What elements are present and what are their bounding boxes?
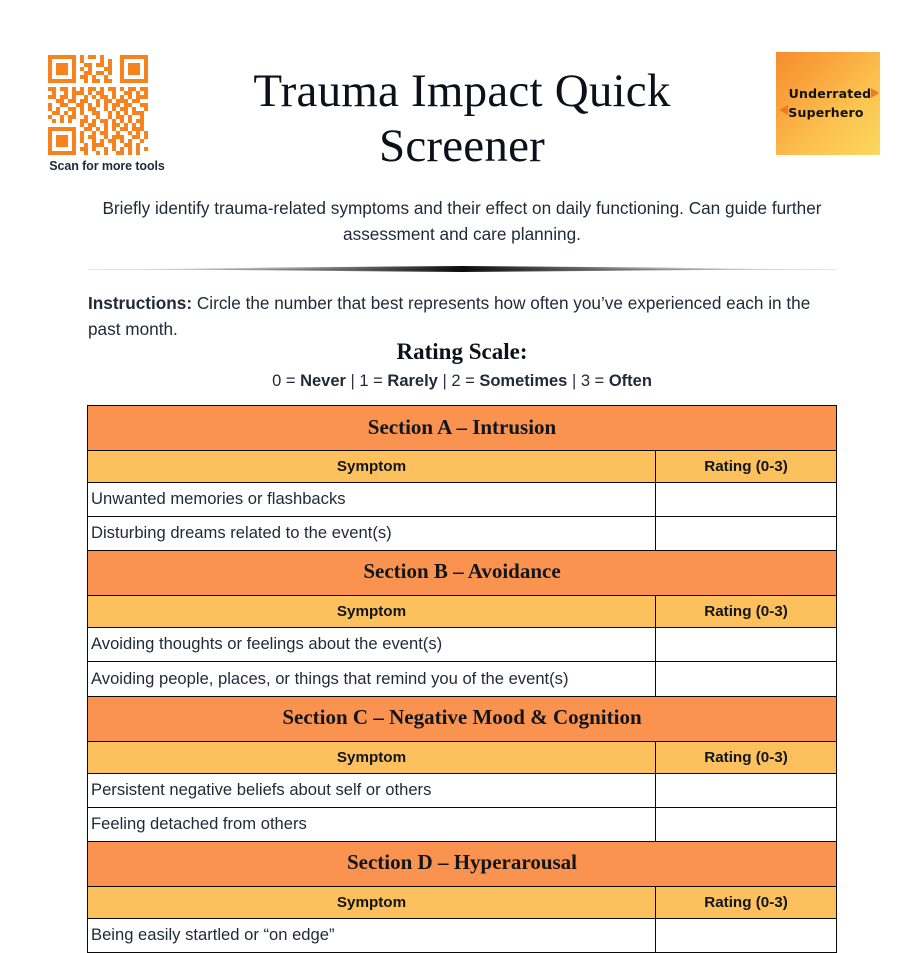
page-title: Trauma Impact Quick Screener [172,64,752,173]
rating-value: 1 = [359,372,387,390]
brand-line-2: Superhero [788,104,863,122]
table-row: Avoiding people, places, or things that … [88,661,837,696]
rating-separator: | [346,372,359,390]
table-row: Avoiding thoughts or feelings about the … [88,627,837,661]
column-header-row: SymptomRating (0-3) [88,886,837,918]
rating-separator: | [438,372,451,390]
instructions: Instructions: Circle the number that bes… [88,291,836,343]
brand-line-1: Underrated [789,85,872,103]
rating-scale-title: Rating Scale: [88,339,836,365]
qr-code-icon[interactable] [48,55,148,155]
symptom-cell: Avoiding people, places, or things that … [88,661,656,696]
qr-caption: Scan for more tools [48,159,166,173]
section-header-row: Section A – Intrusion [88,406,837,451]
symptom-cell: Unwanted memories or flashbacks [88,483,656,517]
column-header-rating: Rating (0-3) [656,741,837,773]
screener-table: Section A – IntrusionSymptomRating (0-3)… [87,405,837,953]
page-subtitle: Briefly identify trauma-related symptoms… [82,196,842,248]
section-header-row: Section B – Avoidance [88,550,837,595]
qr-block[interactable]: Scan for more tools [48,55,166,173]
rating-scale-legend: 0 = Never | 1 = Rarely | 2 = Sometimes |… [88,372,836,391]
rating-cell[interactable] [656,661,837,696]
rating-value: 0 = [272,372,300,390]
symptom-cell: Avoiding thoughts or feelings about the … [88,627,656,661]
column-header-row: SymptomRating (0-3) [88,451,837,483]
symptom-cell: Being easily startled or “on edge” [88,918,656,952]
section-divider [88,266,836,272]
column-header-symptom: Symptom [88,886,656,918]
instructions-text: Circle the number that best represents h… [88,293,810,339]
column-header-rating: Rating (0-3) [656,595,837,627]
divider-core [133,266,791,272]
section-heading: Section A – Intrusion [88,406,837,451]
rating-label: Often [609,372,652,390]
column-header-symptom: Symptom [88,741,656,773]
section-header-row: Section D – Hyperarousal [88,841,837,886]
section-heading: Section C – Negative Mood & Cognition [88,696,837,741]
table-row: Unwanted memories or flashbacks [88,483,837,517]
rating-cell[interactable] [656,773,837,807]
rating-label: Never [300,372,346,390]
rating-cell[interactable] [656,807,837,841]
page-header: Scan for more tools Trauma Impact Quick … [0,0,924,182]
column-header-symptom: Symptom [88,595,656,627]
section-heading: Section D – Hyperarousal [88,841,837,886]
rating-cell[interactable] [656,516,837,550]
brand-badge: Underrated Superhero [776,52,880,155]
section-heading: Section B – Avoidance [88,550,837,595]
symptom-cell: Disturbing dreams related to the event(s… [88,516,656,550]
symptom-cell: Feeling detached from others [88,807,656,841]
section-header-row: Section C – Negative Mood & Cognition [88,696,837,741]
rating-label: Rarely [387,372,437,390]
rating-separator: | [567,372,580,390]
rating-label: Sometimes [479,372,567,390]
column-header-rating: Rating (0-3) [656,886,837,918]
symptom-cell: Persistent negative beliefs about self o… [88,773,656,807]
rating-value: 2 = [451,372,479,390]
rating-cell[interactable] [656,918,837,952]
table-row: Feeling detached from others [88,807,837,841]
rating-cell[interactable] [656,483,837,517]
column-header-symptom: Symptom [88,451,656,483]
table-row: Persistent negative beliefs about self o… [88,773,837,807]
table-row: Disturbing dreams related to the event(s… [88,516,837,550]
rating-value: 3 = [581,372,609,390]
table-row: Being easily startled or “on edge” [88,918,837,952]
screener-page: Scan for more tools Trauma Impact Quick … [0,0,924,881]
column-header-rating: Rating (0-3) [656,451,837,483]
column-header-row: SymptomRating (0-3) [88,741,837,773]
rating-cell[interactable] [656,627,837,661]
column-header-row: SymptomRating (0-3) [88,595,837,627]
instructions-label: Instructions: [88,293,192,313]
